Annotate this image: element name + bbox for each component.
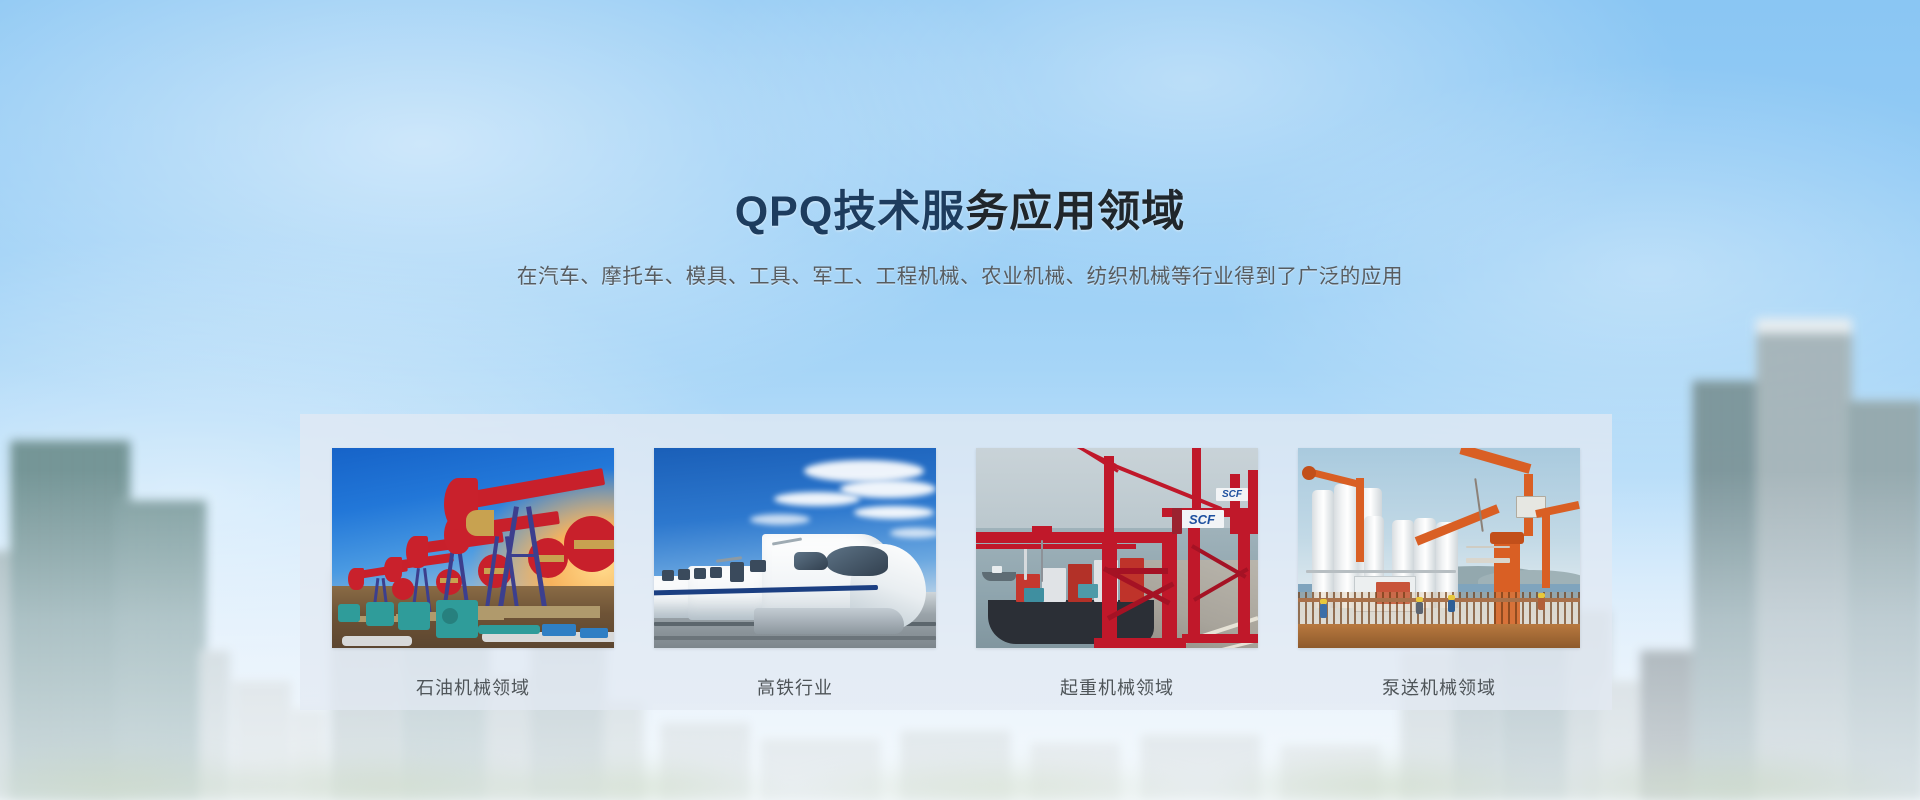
cement-silo: [1312, 490, 1334, 608]
crane-hoist-cable: [1041, 540, 1043, 582]
cloud: [750, 514, 810, 525]
page-subtitle: 在汽车、摩托车、模具、工具、军工、工程机械、农业机械、纺织机械等行业得到了广泛的…: [0, 262, 1920, 293]
pump-boom-arm: [1356, 478, 1364, 562]
crane-boom: [976, 532, 1176, 543]
ship-mast: [1024, 544, 1027, 580]
container-stack: [1078, 584, 1098, 598]
pumpjack-head: [406, 536, 428, 568]
train-door-window: [730, 562, 744, 582]
wellhead: [338, 604, 360, 622]
cloud: [890, 528, 936, 538]
rail-line: [654, 636, 936, 640]
card-thumbnail-pump[interactable]: [1298, 448, 1580, 648]
worker-body: [1416, 602, 1423, 614]
worker-body: [1448, 600, 1455, 612]
pumpjack-crank: [574, 540, 614, 549]
work-deck: [1298, 624, 1580, 648]
tugboat-cabin: [992, 566, 1002, 573]
crane-brand-plate: SCF: [1180, 510, 1224, 528]
snow-patch: [342, 636, 412, 646]
worker-body: [1320, 604, 1327, 618]
page-title-blue-part: QPQ技术服: [735, 188, 966, 236]
train-skirt: [754, 608, 904, 634]
equipment-box: [542, 624, 576, 636]
pumpjack-head: [384, 557, 402, 582]
pumpjack-near: [444, 476, 614, 616]
crane-machinery-house: [1172, 508, 1182, 534]
crane-trolley: [1032, 526, 1052, 540]
crane-base: [1182, 634, 1258, 643]
pumpjack-head: [348, 568, 364, 590]
valve-wheel: [442, 608, 458, 624]
handrail: [1466, 546, 1510, 548]
card-thumbnail-crane[interactable]: SCF SCF: [976, 448, 1258, 648]
application-card-crane[interactable]: SCF SCF 起重机械领域: [976, 448, 1258, 700]
placing-boom-collar: [1490, 532, 1524, 544]
silo-frame: [1306, 570, 1456, 573]
pumpjack-frame: [498, 506, 519, 608]
building-roof-cap: [1756, 318, 1852, 334]
crane-leg: [1230, 474, 1240, 534]
crane-brand-plate-2: SCF: [1216, 488, 1248, 501]
crane-leg: [1102, 532, 1117, 644]
train-windshield: [826, 546, 888, 576]
crane-base: [1094, 638, 1186, 648]
catwalk-platform: [1466, 558, 1510, 563]
page-title: QPQ技术服务应用领域: [0, 186, 1920, 240]
secondary-boom: [1542, 514, 1550, 588]
application-card-rail[interactable]: 高铁行业: [654, 448, 936, 700]
worker-body: [1538, 598, 1545, 610]
container-stack: [1024, 588, 1044, 602]
card-caption: 高铁行业: [654, 674, 936, 700]
wellhead: [366, 602, 394, 626]
cloud: [804, 460, 924, 482]
page-title-dark-part: 务应用领域: [965, 188, 1185, 236]
train-side-window: [794, 552, 828, 570]
card-caption: 起重机械领域: [976, 674, 1258, 700]
card-caption: 泵送机械领域: [1298, 674, 1580, 700]
pumpjack-saddle: [466, 510, 494, 536]
train-window: [750, 560, 766, 572]
application-card-oil[interactable]: 石油机械领域: [332, 448, 614, 700]
crane-apex: [1192, 448, 1201, 510]
application-card-pump[interactable]: 泵送机械领域: [1298, 448, 1580, 700]
page-header: QPQ技术服务应用领域 在汽车、摩托车、模具、工具、军工、工程机械、农业机械、纺…: [0, 186, 1920, 293]
applications-panel: 石油机械领域: [300, 414, 1612, 710]
pump-boom-joint: [1302, 466, 1316, 480]
train-window: [694, 568, 706, 579]
train-window: [678, 569, 690, 580]
wellhead: [398, 602, 430, 630]
train-window: [662, 570, 674, 581]
crane-leg: [1248, 470, 1258, 534]
concrete-pump-scene: [1298, 448, 1580, 648]
container-stack: [1042, 568, 1066, 602]
train-window: [710, 567, 722, 578]
cloud: [774, 492, 860, 506]
card-thumbnail-rail[interactable]: [654, 448, 936, 648]
card-caption: 石油机械领域: [332, 674, 614, 700]
pumpjack-base: [470, 606, 600, 618]
high-speed-train-scene: [654, 448, 936, 648]
cloud: [854, 506, 934, 519]
equipment-box: [580, 628, 608, 638]
port-crane-scene: SCF SCF: [976, 448, 1258, 648]
pumpjack-brace: [508, 554, 538, 557]
pumpjack-frame: [526, 506, 547, 608]
card-thumbnail-oil[interactable]: [332, 448, 614, 648]
wellhead-pipe: [478, 625, 540, 634]
tugboat: [982, 572, 1016, 581]
oil-pumpjack-scene: [332, 448, 614, 648]
wellhead: [436, 600, 478, 638]
